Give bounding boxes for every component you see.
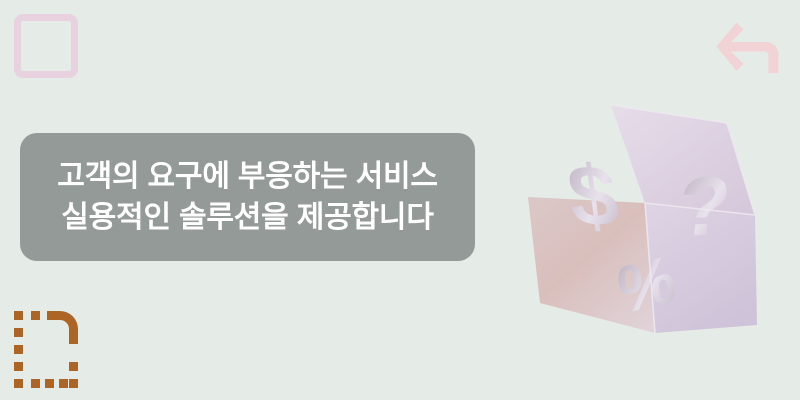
rounded-square-outline-icon xyxy=(14,14,78,78)
headline-banner: 고객의 요구에 부응하는 서비스 실용적인 솔루션을 제공합니다 xyxy=(20,133,475,261)
cube-symbol-question: ? xyxy=(675,159,735,254)
svg-text:%: % xyxy=(613,241,680,329)
dashed-corner-square-icon xyxy=(14,311,78,388)
3d-cube-icon: $ ? % xyxy=(505,75,795,365)
headline-line-1: 고객의 요구에 부응하는 서비스 xyxy=(57,158,438,196)
reply-arrow-icon xyxy=(714,16,780,78)
poster-canvas: 고객의 요구에 부응하는 서비스 실용적인 솔루션을 제공합니다 xyxy=(0,0,800,400)
svg-text:?: ? xyxy=(675,159,735,254)
headline-line-2: 실용적인 솔루션을 제공합니다 xyxy=(61,199,433,237)
cube-symbol-percent: % xyxy=(613,241,680,329)
